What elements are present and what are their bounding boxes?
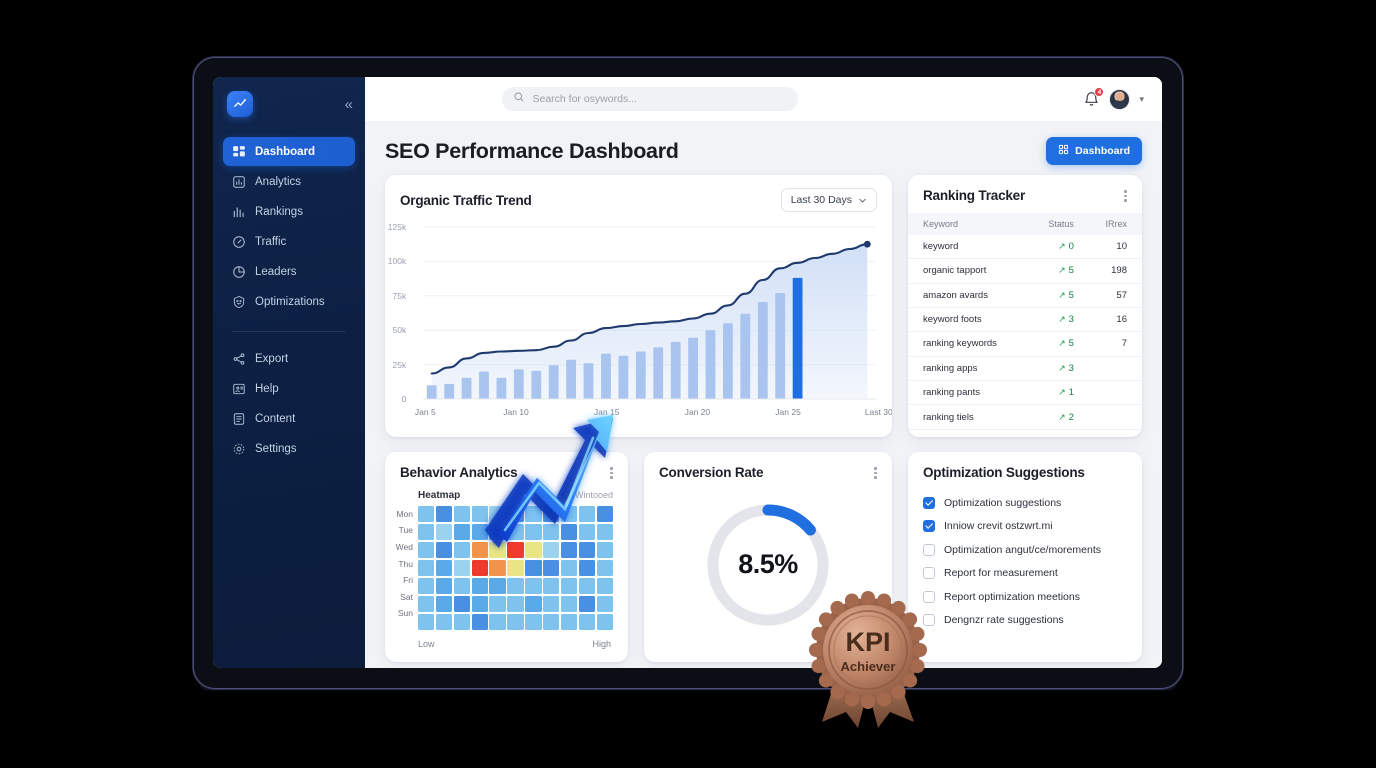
arrow-up-right-icon: ↗ [1058,265,1066,275]
arrow-up-right-icon: ↗ [1058,290,1066,300]
optimization-item[interactable]: Optimization suggestions [923,491,1127,515]
kebab-menu-icon[interactable] [610,465,613,481]
cell-index [1092,405,1142,429]
cell-status: ↗1 [1030,381,1092,405]
cell-index [1092,356,1142,380]
traffic-chart-svg [393,221,880,417]
cell-keyword: ranking keywords [908,332,1030,356]
ranking-table-body: keyword ↗0 10 organic tapport ↗5 198 ama… [908,235,1142,430]
heatmap-cell[interactable] [543,542,559,559]
heatmap-cell[interactable] [418,506,434,523]
heatmap-row-label: Sun [392,605,418,622]
topbar: 4 ▾ [365,77,1162,121]
traffic-chart: 025k50k75k100k125kJan 5Jan 10Jan 15Jan 2… [385,221,892,417]
heatmap-day-labels: MonTueWedThuFriSatSun [392,506,418,631]
chevron-down-icon[interactable]: ▾ [1139,94,1144,105]
cell-index: 198 [1092,259,1142,283]
heatmap-row-label: Mon [392,506,418,523]
cell-status: ↗5 [1030,283,1092,307]
pie-chart-icon [232,265,246,279]
sidebar-nav: Dashboard Analytics Rankings [223,137,355,317]
scale-low-label: Low [418,639,435,649]
sidebar-item-label: Content [255,413,295,425]
dashboard-row-top: Organic Traffic Trend Last 30 Days 025k5… [385,175,1142,437]
heatmap-cell[interactable] [543,596,559,613]
y-axis-tick: 50k [393,325,413,335]
heatmap-cell[interactable] [525,578,541,595]
heatmap-cell[interactable] [454,578,470,595]
sidebar-divider [232,331,346,332]
ranking-table-head: Keyword Status IRrex [908,213,1142,235]
heatmap-cell[interactable] [472,560,488,577]
heatmap-header: Heatmap Wintooed [385,490,628,506]
heatmap-cell[interactable] [597,524,613,541]
heatmap-cell[interactable] [489,524,505,541]
heatmap-cell[interactable] [418,560,434,577]
heatmap-cell[interactable] [489,614,505,631]
heatmap-cell[interactable] [418,614,434,631]
cell-keyword: ranking apps [908,356,1030,380]
dashboard-row-bottom: Behavior Analytics Heatmap Wintooed MonT… [385,452,1142,662]
heatmap-cell[interactable] [597,596,613,613]
date-range-select[interactable]: Last 30 Days [781,188,877,212]
cell-keyword: keyword foots [908,307,1030,331]
heatmap-cell[interactable] [418,542,434,559]
legend-swatch-icon [561,491,570,500]
heatmap-body: MonTueWedThuFriSatSun [385,506,628,631]
heatmap-cell[interactable] [454,524,470,541]
optimization-item[interactable]: Optimization angut/ce/morements [923,538,1127,562]
heatmap-cell[interactable] [543,578,559,595]
dashboard-button-label: Dashboard [1075,145,1130,157]
optimization-item[interactable]: Dengnzr rate suggestions [923,609,1127,633]
heatmap-cell[interactable] [543,506,559,523]
heatmap-scale: Low High [385,630,628,649]
page-title: SEO Performance Dashboard [385,139,679,164]
sidebar-item-traffic[interactable]: Traffic [223,227,355,256]
cell-index [1092,381,1142,405]
card-title: Organic Traffic Trend [400,193,532,208]
heatmap-cell[interactable] [436,578,452,595]
behavior-analytics-header: Behavior Analytics [385,452,628,490]
cell-keyword: ranking pants [908,381,1030,405]
optimization-item-label: Report optimization meetions [944,591,1080,603]
sidebar-item-export[interactable]: Export [223,344,355,373]
card-title: Optimization Suggestions [923,465,1085,480]
table-row[interactable]: organic tapport ↗5 198 [908,259,1142,283]
topbar-actions: 4 ▾ [1083,89,1144,110]
heatmap-cell[interactable] [543,524,559,541]
heatmap-cell[interactable] [436,524,452,541]
heatmap-cell[interactable] [436,596,452,613]
sidebar-item-label: Analytics [255,176,301,188]
heatmap-cell[interactable] [525,614,541,631]
sidebar-top: « [223,91,355,137]
heatmap-cell[interactable] [561,560,577,577]
heatmap-cell[interactable] [436,506,452,523]
heatmap-cell[interactable] [597,506,613,523]
sidebar-item-label: Settings [255,443,297,455]
heatmap-row-label: Wed [392,539,418,556]
app-screen: « Dashboard Analytics [213,77,1162,668]
x-axis-tick: Jan 10 [503,407,529,417]
optimization-item[interactable]: Report for measurement [923,562,1127,586]
heatmap-cell[interactable] [579,596,595,613]
heatmap-cell[interactable] [472,578,488,595]
organic-traffic-card: Organic Traffic Trend Last 30 Days 025k5… [385,175,892,437]
x-axis-tick: Jan 15 [594,407,620,417]
optimization-item-label: Dengnzr rate suggestions [944,614,1064,626]
heatmap-cell[interactable] [436,542,452,559]
sidebar-item-dashboard[interactable]: Dashboard [223,137,355,166]
dashboard-button[interactable]: Dashboard [1046,137,1142,165]
arrow-up-right-icon: ↗ [1058,338,1066,348]
heatmap-cell[interactable] [472,506,488,523]
heatmap-label: Heatmap [418,490,460,501]
help-panel-icon [232,382,246,396]
heatmap-cell[interactable] [597,578,613,595]
date-range-label: Last 30 Days [791,194,852,206]
sidebar-item-label: Rankings [255,206,303,218]
column-status: Status [1030,213,1092,235]
share-icon [232,352,246,366]
arrow-up-right-icon: ↗ [1058,387,1066,397]
conversion-value: 8.5% [704,501,832,629]
heatmap-cell[interactable] [597,614,613,631]
heatmap-cell[interactable] [418,524,434,541]
heatmap-cell[interactable] [579,560,595,577]
y-axis-tick: 0 [402,394,413,404]
sidebar-item-label: Dashboard [255,146,315,158]
behavior-analytics-card: Behavior Analytics Heatmap Wintooed MonT… [385,452,628,662]
heatmap-cell[interactable] [418,578,434,595]
arrow-up-right-icon: ↗ [1058,241,1066,251]
sidebar-item-label: Traffic [255,236,286,248]
sidebar: « Dashboard Analytics [213,77,365,668]
y-axis-tick: 75k [393,291,413,301]
heatmap-cell[interactable] [454,614,470,631]
heatmap-cell[interactable] [561,578,577,595]
optimization-item-label: Report for measurement [944,567,1058,579]
sidebar-item-content[interactable]: Content [223,404,355,433]
cell-status: ↗3 [1030,356,1092,380]
optimization-suggestions-card: Optimization Suggestions Optimization su… [908,452,1142,662]
checkbox[interactable] [923,544,935,556]
conversion-gauge: 8.5% [704,501,832,629]
heatmap-cell[interactable] [525,560,541,577]
table-header-row: Keyword Status IRrex [908,213,1142,235]
heatmap-cell[interactable] [436,560,452,577]
table-row[interactable]: ranking apps ↗3 [908,356,1142,380]
heatmap-cell[interactable] [597,560,613,577]
optimization-item-label: Optimization angut/ce/morements [944,544,1101,556]
heatmap-legend: Wintooed [561,490,613,500]
cell-status: ↗0 [1030,235,1092,259]
arrow-up-right-icon: ↗ [1058,412,1066,422]
conversion-rate-header: Conversion Rate [644,452,892,490]
heatmap-cell[interactable] [579,542,595,559]
heatmap-cell[interactable] [507,614,523,631]
ranking-tracker-card: Ranking Tracker Keyword Status IRrex [908,175,1142,437]
heatmap-row-label: Fri [392,572,418,589]
x-axis-tick: Last 30 [865,407,892,417]
kebab-menu-icon[interactable] [874,465,877,481]
heatmap-cell[interactable] [454,596,470,613]
optimization-header: Optimization Suggestions [908,452,1142,489]
heatmap-cell[interactable] [543,614,559,631]
heatmap-cell[interactable] [579,614,595,631]
heatmap-cell[interactable] [489,506,505,523]
cell-status: ↗2 [1030,405,1092,429]
sidebar-secondary-nav: Export Help Content [223,344,355,464]
heatmap-cell[interactable] [525,524,541,541]
scale-high-label: High [592,639,611,649]
heatmap-cell[interactable] [472,524,488,541]
cell-status: ↗3 [1030,307,1092,331]
ranking-table: Keyword Status IRrex keyword ↗0 10 organ… [908,213,1142,430]
table-row[interactable]: keyword foots ↗3 16 [908,307,1142,331]
heatmap-cell[interactable] [454,542,470,559]
sidebar-item-analytics[interactable]: Analytics [223,167,355,196]
column-index: IRrex [1092,213,1142,235]
heatmap-cell[interactable] [525,542,541,559]
search-icon [513,90,525,108]
heatmap-cell[interactable] [507,560,523,577]
heatmap-cell[interactable] [561,506,577,523]
notifications-button[interactable]: 4 [1083,91,1100,108]
analytics-icon [232,175,246,189]
cell-keyword: ranking tiels [908,405,1030,429]
checkbox[interactable] [923,567,935,579]
avatar[interactable] [1109,89,1130,110]
cell-index: 57 [1092,283,1142,307]
table-row[interactable]: keyword ↗0 10 [908,235,1142,259]
arrow-up-right-icon: ↗ [1058,363,1066,373]
grid-dashboard-icon [232,145,246,159]
optimization-list: Optimization suggestions Inniow crevit o… [908,489,1142,632]
cell-status: ↗5 [1030,259,1092,283]
cell-index: 10 [1092,235,1142,259]
sidebar-item-help[interactable]: Help [223,374,355,403]
device-frame: « Dashboard Analytics [193,57,1183,689]
table-row[interactable]: ranking keywords ↗5 7 [908,332,1142,356]
heatmap-cell[interactable] [507,542,523,559]
heatmap-grid [418,506,613,631]
grid-dashboard-icon [1058,144,1069,158]
card-title: Conversion Rate [659,465,763,480]
organic-traffic-header: Organic Traffic Trend Last 30 Days [385,175,892,221]
sidebar-item-label: Optimizations [255,296,325,308]
checkbox[interactable] [923,497,935,509]
conversion-rate-card: Conversion Rate 8.5% [644,452,892,662]
sidebar-item-leaders[interactable]: Leaders [223,257,355,286]
heatmap-row-label: Thu [392,556,418,573]
heatmap-cell[interactable] [489,578,505,595]
app-logo[interactable] [227,91,253,117]
card-title: Behavior Analytics [400,465,517,480]
optimization-item[interactable]: Report optimization meetions [923,585,1127,609]
cell-index: 7 [1092,332,1142,356]
sidebar-item-settings[interactable]: Settings [223,434,355,463]
heatmap-cell[interactable] [507,506,523,523]
cell-keyword: keyword [908,235,1030,259]
heatmap-cell[interactable] [436,614,452,631]
table-row[interactable]: ranking tiels ↗2 [908,405,1142,429]
notification-badge: 4 [1094,87,1104,97]
heatmap-cell[interactable] [597,542,613,559]
bar-chart-icon [232,205,246,219]
ranking-tracker-header: Ranking Tracker [908,175,1142,213]
x-axis-tick: Jan 5 [415,407,436,417]
heatmap-cell[interactable] [489,596,505,613]
column-keyword: Keyword [908,213,1030,235]
heatmap-cell[interactable] [489,542,505,559]
heatmap-cell[interactable] [507,578,523,595]
dashboard-grid: Organic Traffic Trend Last 30 Days 025k5… [365,175,1162,668]
shield-face-icon [232,295,246,309]
heatmap-cell[interactable] [507,524,523,541]
chevron-down-icon [858,196,867,205]
arrow-up-right-icon: ↗ [1058,314,1066,324]
main-area: 4 ▾ SEO Performance Dashboard Dashboard [365,77,1162,668]
sidebar-item-label: Export [255,353,288,365]
heatmap-cell[interactable] [525,506,541,523]
heatmap-cell[interactable] [561,596,577,613]
cell-keyword: organic tapport [908,259,1030,283]
card-title: Ranking Tracker [923,188,1025,203]
cell-status: ↗5 [1030,332,1092,356]
cell-index: 16 [1092,307,1142,331]
heatmap-cell[interactable] [454,560,470,577]
heatmap-cell[interactable] [579,578,595,595]
page-header: SEO Performance Dashboard Dashboard [365,121,1162,175]
conversion-gauge-wrap: 8.5% [644,490,892,640]
optimization-item-label: Inniow crevit ostzwrt.mi [944,520,1053,532]
search-input[interactable] [532,93,787,105]
heatmap-cell[interactable] [472,542,488,559]
document-icon [232,412,246,426]
x-axis-tick: Jan 25 [775,407,801,417]
optimization-item-label: Optimization suggestions [944,497,1061,509]
table-row[interactable]: amazon avards ↗5 57 [908,283,1142,307]
heatmap-cell[interactable] [454,506,470,523]
sidebar-item-rankings[interactable]: Rankings [223,197,355,226]
checkbox[interactable] [923,614,935,626]
heatmap-cell[interactable] [507,596,523,613]
checkbox[interactable] [923,591,935,603]
heatmap-cell[interactable] [579,506,595,523]
sidebar-item-optimizations[interactable]: Optimizations [223,287,355,316]
heatmap-cell[interactable] [543,560,559,577]
heatmap-cell[interactable] [525,596,541,613]
heatmap-cell[interactable] [472,596,488,613]
gauge-icon [232,235,246,249]
sidebar-collapse-icon[interactable]: « [345,97,351,112]
sidebar-item-label: Help [255,383,279,395]
heatmap-cell[interactable] [579,524,595,541]
kebab-menu-icon[interactable] [1124,188,1127,204]
heatmap-cell[interactable] [418,596,434,613]
sidebar-item-label: Leaders [255,266,297,278]
x-axis-tick: Jan 20 [685,407,711,417]
heatmap-cell[interactable] [561,524,577,541]
y-axis-tick: 25k [393,360,413,370]
heatmap-row-label: Tue [392,522,418,539]
optimization-item[interactable]: Inniow crevit ostzwrt.mi [923,515,1127,539]
table-row[interactable]: ranking pants ↗1 [908,381,1142,405]
y-axis-tick: 100k [388,256,412,266]
heatmap-cell[interactable] [472,614,488,631]
checkbox[interactable] [923,520,935,532]
heatmap-row-label: Sat [392,589,418,606]
heatmap-cell[interactable] [561,542,577,559]
gear-icon [232,442,246,456]
heatmap-cell[interactable] [489,560,505,577]
y-axis-tick: 125k [388,222,412,232]
cell-keyword: amazon avards [908,283,1030,307]
legend-label: Wintooed [575,490,613,500]
heatmap-cell[interactable] [561,614,577,631]
search-box[interactable] [502,87,798,111]
